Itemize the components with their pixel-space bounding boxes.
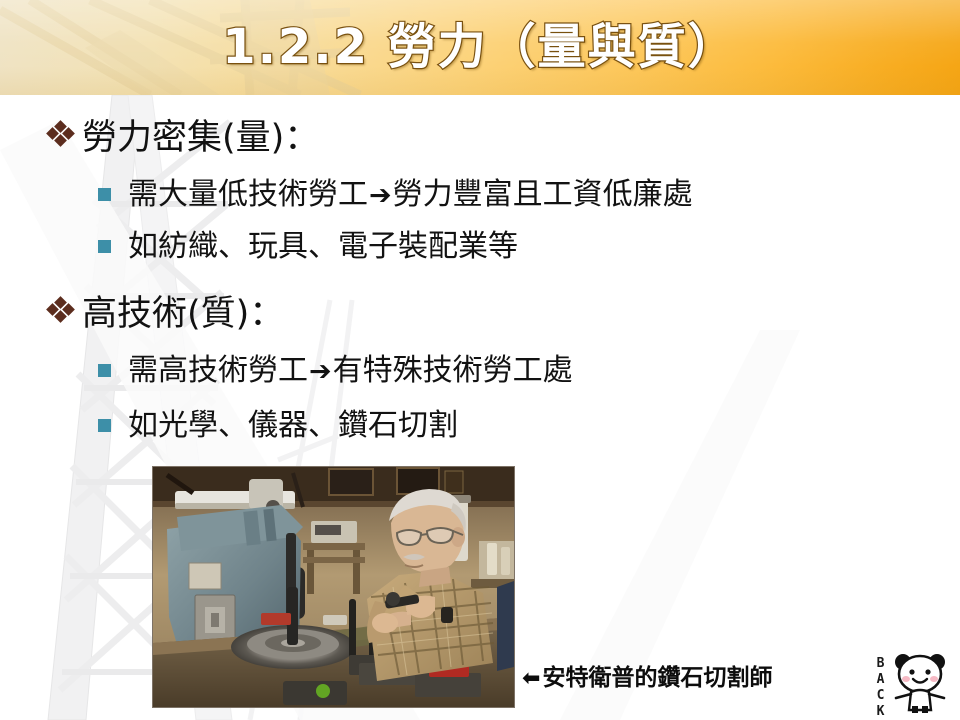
- photo-caption: ⬅安特衛普的鑽石切割師: [522, 663, 772, 694]
- section-heading-2-label: 高技術(質)：: [82, 291, 284, 337]
- section-heading-2: 高技術(質)：: [48, 291, 284, 337]
- square-bullet-icon: [98, 227, 128, 253]
- section-heading-1: 勞力密集(量)：: [48, 115, 319, 161]
- slide: 1.2.2 勞力（量與質） 勞力密集(量)： 需大量低技術勞工➔勞力豐富且工資低…: [0, 0, 960, 720]
- right-arrow-icon: ➔: [368, 180, 393, 211]
- square-bullet-icon: [98, 351, 128, 377]
- page-title: 1.2.2 勞力（量與質）: [0, 12, 960, 82]
- right-arrow-icon: [458, 411, 460, 442]
- slide-header-band: 1.2.2 勞力（量與質）: [0, 0, 960, 95]
- back-button-label: BACK: [869, 656, 887, 720]
- list-item-text-after: 勞力豐富且工資低廉處: [393, 177, 693, 212]
- list-item-text-before: 如光學、儀器、鑽石切割: [128, 408, 458, 443]
- list-item-text-before: 如紡織、玩具、電子裝配業等: [128, 229, 518, 264]
- photo-caption-text: 安特衛普的鑽石切割師: [542, 665, 772, 691]
- list-item-text-before: 需大量低技術勞工: [128, 177, 368, 212]
- section-heading-1-label: 勞力密集(量)：: [82, 115, 319, 161]
- right-arrow-icon: [518, 232, 520, 263]
- panda-icon: [889, 648, 951, 718]
- list-item: 如光學、儀器、鑽石切割: [98, 406, 460, 447]
- right-arrow-icon: ➔: [308, 356, 333, 387]
- list-item-text: 如光學、儀器、鑽石切割: [128, 406, 460, 447]
- diamond-cluster-icon: [48, 291, 82, 298]
- square-bullet-icon: [98, 406, 128, 432]
- back-button[interactable]: BACK: [869, 648, 955, 714]
- list-item-text-before: 需高技術勞工: [128, 353, 308, 388]
- list-item: 需大量低技術勞工➔勞力豐富且工資低廉處: [98, 175, 693, 216]
- list-item: 需高技術勞工➔有特殊技術勞工處: [98, 351, 573, 392]
- left-arrow-icon: ⬅: [522, 666, 542, 691]
- list-item: 如紡織、玩具、電子裝配業等: [98, 227, 520, 268]
- list-item-text: 需大量低技術勞工➔勞力豐富且工資低廉處: [128, 175, 693, 216]
- list-item-text-after: 有特殊技術勞工處: [333, 353, 573, 388]
- list-item-text: 需高技術勞工➔有特殊技術勞工處: [128, 351, 573, 392]
- diamond-cluster-icon: [48, 115, 82, 122]
- square-bullet-icon: [98, 175, 128, 201]
- diamond-cutter-workshop-photo: [152, 466, 515, 708]
- list-item-text: 如紡織、玩具、電子裝配業等: [128, 227, 520, 268]
